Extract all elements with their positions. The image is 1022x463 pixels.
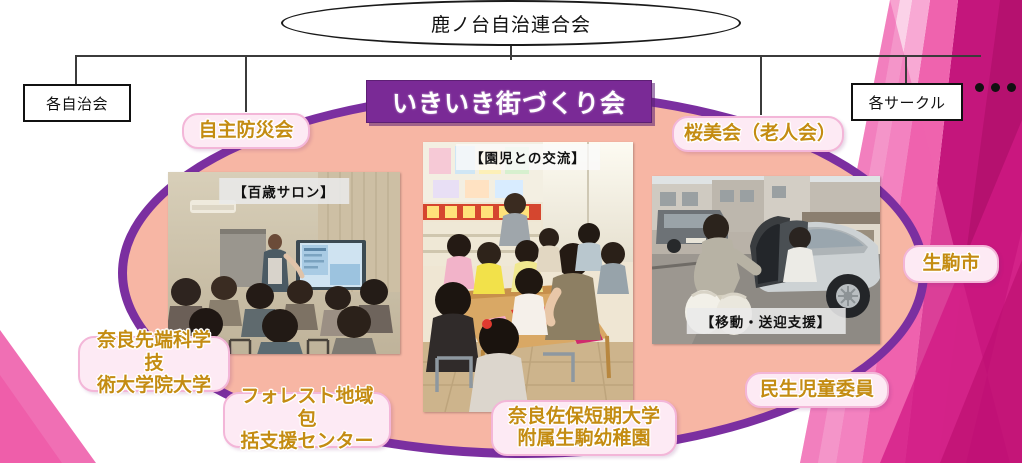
root-node-label: 鹿ノ台自治連合会 [431, 10, 591, 37]
root-node-ellipse: 鹿ノ台自治連合会 [281, 0, 741, 46]
banner-label: いきいき街づくり会 [392, 84, 626, 120]
node-label-jichikai: 各自治会 [46, 93, 108, 114]
partner-label-naist-line1: 奈良先端科学技 [90, 330, 218, 375]
partner-label-naist-line2: 術大学院大学 [97, 375, 211, 397]
badge-label-ouyou: 桜美会（老人会） [684, 123, 832, 145]
photo-idou-sougei-caption: 【移動・送迎支援】 [687, 308, 846, 334]
photo-enji-kouryu-image [423, 142, 633, 412]
connector-drop-ouyou [760, 55, 762, 115]
connector-horizontal-bus [75, 55, 981, 57]
node-桜美会: 桜美会（老人会） [672, 116, 844, 152]
photo-hyakusai-salon-caption: 【百歳サロン】 [219, 178, 349, 204]
node-label-circle: 各サークル [868, 92, 945, 113]
partner-label-forest-line1: フォレスト地域包 [235, 386, 379, 431]
connector-drop-circle [905, 55, 907, 84]
node-自主防災会: 自主防災会 [182, 113, 310, 149]
partner-奈良先端科学技術大学院大学: 奈良先端科学技 術大学院大学 [78, 336, 230, 392]
partner-フォレスト地域包括支援センター: フォレスト地域包 括支援センター [223, 392, 391, 448]
connector-drop-jichikai [75, 55, 77, 87]
photo-enji-kouryu-caption: 【園児との交流】 [456, 144, 600, 170]
partner-民生児童委員: 民生児童委員 [745, 372, 889, 408]
diagram-canvas: 鹿ノ台自治連合会 各自治会 各サークル いきいき街づくり会 [0, 0, 1022, 463]
node-いきいき街づくり会: いきいき街づくり会 [366, 80, 652, 123]
partner-奈良佐保短期大学附属生駒幼稚園: 奈良佐保短期大学 附属生駒幼稚園 [491, 400, 677, 456]
node-各サークル: 各サークル [851, 83, 963, 121]
connector-drop-bosai [245, 55, 247, 112]
badge-label-bosai: 自主防災会 [198, 120, 293, 142]
partner-label-minsei: 民生児童委員 [760, 379, 874, 401]
partner-label-forest-line2: 括支援センター [240, 431, 373, 453]
partner-生駒市: 生駒市 [903, 245, 999, 283]
node-各自治会: 各自治会 [23, 84, 131, 122]
partner-label-ikoma: 生駒市 [922, 253, 979, 275]
partner-label-saho-line2: 附属生駒幼稚園 [517, 428, 650, 450]
photo-enji-kouryu: 【園児との交流】 [423, 142, 633, 412]
partner-label-saho-line1: 奈良佐保短期大学 [508, 406, 660, 428]
photo-hyakusai-salon: 【百歳サロン】 [168, 172, 400, 354]
ellipsis-dots-icon [975, 83, 1016, 92]
photo-idou-sougei: 【移動・送迎支援】 [652, 176, 880, 344]
